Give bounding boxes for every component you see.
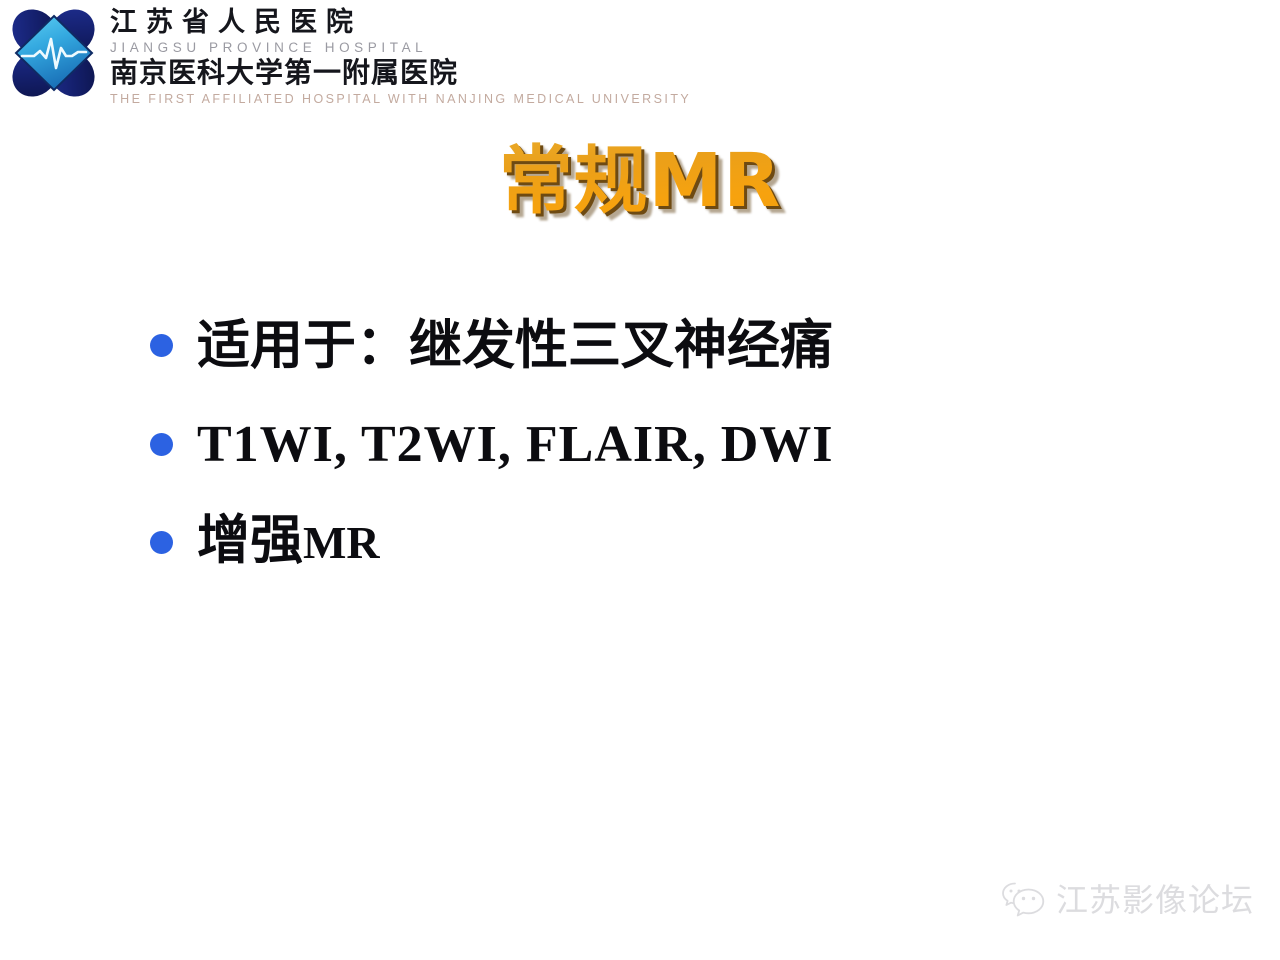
bullet-dot-icon: [150, 531, 173, 554]
slide-canvas: 江苏省人民医院 JIANGSU PROVINCE HOSPITAL 南京医科大学…: [0, 0, 1280, 960]
affiliate-name-en: THE FIRST AFFILIATED HOSPITAL WITH NANJI…: [110, 92, 691, 107]
letterhead-text-block: 江苏省人民医院 JIANGSU PROVINCE HOSPITAL 南京医科大学…: [110, 6, 691, 107]
hospital-emblem-ecg-diamond-icon: [8, 6, 100, 102]
list-item: 增强MR: [150, 494, 1150, 590]
bullet-dot-icon: [150, 334, 173, 357]
bullet-text-enhanced-mr: 增强MR: [197, 512, 380, 572]
slide-title: 常规MR: [0, 138, 1280, 224]
list-item: 适用于：继发性三叉神经痛: [150, 296, 1150, 395]
bullet-text-enhanced-mr-cjk: 增强: [197, 510, 303, 571]
bullet-list: 适用于：继发性三叉神经痛 T1WI, T2WI, FLAIR, DWI 增强MR: [150, 296, 1150, 590]
affiliate-name-cn: 南京医科大学第一附属医院: [110, 57, 691, 89]
hospital-name-en: JIANGSU PROVINCE HOSPITAL: [110, 40, 691, 56]
list-item: T1WI, T2WI, FLAIR, DWI: [150, 395, 1150, 494]
hospital-letterhead: 江苏省人民医院 JIANGSU PROVINCE HOSPITAL 南京医科大学…: [8, 6, 691, 107]
bullet-text-enhanced-mr-latin: MR: [303, 517, 380, 568]
bullet-text-sequences: T1WI, T2WI, FLAIR, DWI: [197, 417, 833, 473]
hospital-name-cn: 江苏省人民医院: [110, 8, 691, 38]
watermark-text: 江苏影像论坛: [1056, 883, 1254, 917]
bullet-text-indication: 适用于：继发性三叉神经痛: [197, 317, 833, 375]
wechat-icon: [1001, 880, 1047, 920]
watermark: 江苏影像论坛: [1001, 880, 1254, 920]
bullet-dot-icon: [150, 433, 173, 456]
